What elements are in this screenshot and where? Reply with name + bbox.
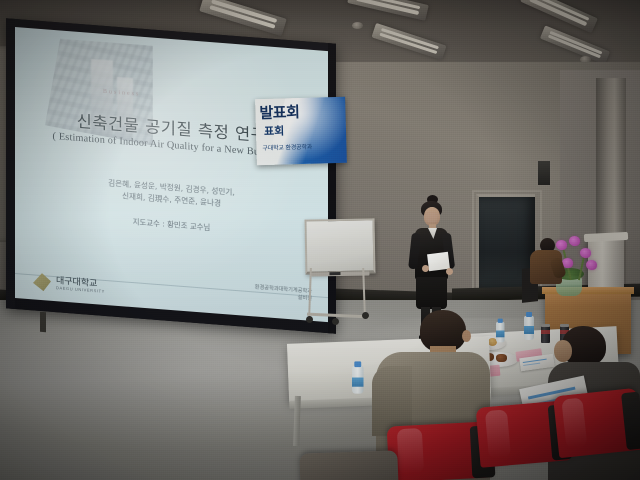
whiteboard [305,218,376,274]
caster-wheel [362,312,369,319]
bottle-cap [526,312,532,317]
banner-line3: 구대학교 환경공학과 [262,142,312,152]
banner-line2: 표회 [264,122,285,139]
seat-back [621,392,640,451]
daegu-university-mark-icon [33,272,51,291]
sprinkler-head [352,22,363,29]
audience-face [554,340,572,362]
presenter-face [425,213,438,223]
orchid-bloom [569,236,580,246]
orchid-bloom [586,260,597,270]
stand-crossbar [307,313,369,319]
wall-speaker-box [537,160,551,186]
photo-scene: 대 교 . (금) Business 신축건물 공기질 측정 연구 ( Esti… [0,0,640,480]
bottle-cap [498,319,503,323]
banner-line1: 발표회 [259,101,299,123]
event-banner: 발표회 표회 구대학교 환경공학과 [255,97,347,165]
bottle-label [496,331,505,338]
presenter-skirt [416,277,447,309]
bottle-cap [354,361,361,367]
food-item [496,354,507,362]
orchid-bloom [580,248,591,258]
seated-attendee-podium [528,238,568,294]
stand-leg [308,268,312,318]
seat-highlight [485,409,511,459]
stand-leg [362,268,366,314]
caster-wheel [306,316,313,323]
seat-highlight [397,428,424,474]
projection-screen: Business 신축건물 공기질 측정 연구 ( Estimation of … [6,18,336,333]
seat-highlight [562,397,587,448]
screen-stand [40,312,46,332]
bottle-label [352,378,364,387]
audience-ear [462,330,471,342]
bottle-label [524,326,534,334]
projected-slide: Business 신축건물 공기질 측정 연구 ( Estimation of … [15,27,328,322]
foreground-seat[interactable] [299,450,398,480]
presenter-left-hand [422,265,429,272]
auditorium-seat[interactable] [553,388,640,458]
slide-university-logo: 대구대학교 DAEGU UNIVERSITY [33,272,105,296]
presenter-right-hand [446,268,453,275]
screen-left-edge [6,18,15,309]
caster-wheel [332,318,339,325]
